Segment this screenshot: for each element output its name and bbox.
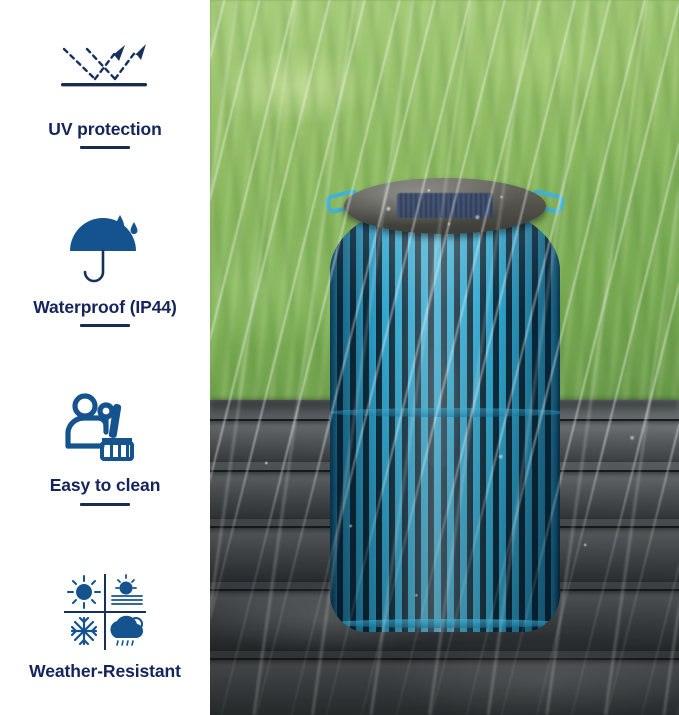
feature-item-waterproof: Waterproof (IP44) bbox=[0, 180, 210, 358]
uv-rays-reflect-icon bbox=[53, 27, 157, 113]
umbrella-raindrops-icon bbox=[62, 205, 148, 291]
feature-divider bbox=[80, 496, 130, 512]
product-feature-graphic: UV protection Waterproof (IP44) bbox=[0, 0, 679, 715]
person-scrub-brush-icon bbox=[62, 383, 148, 469]
feature-label: Weather-Resistant bbox=[29, 661, 181, 682]
feature-divider bbox=[80, 140, 130, 156]
feature-item-easy-to-clean: Easy to clean bbox=[0, 359, 210, 537]
feature-label: Easy to clean bbox=[50, 475, 161, 496]
solar-panel-lid bbox=[344, 178, 546, 234]
feature-item-weather-resistant: Weather-Resistant bbox=[0, 537, 210, 715]
feature-label: UV protection bbox=[48, 119, 161, 140]
feature-label: Waterproof (IP44) bbox=[33, 297, 177, 318]
product-photo bbox=[210, 0, 679, 715]
feature-item-uv-protection: UV protection bbox=[0, 2, 210, 180]
water-droplets bbox=[344, 178, 546, 234]
weather-grid-icon bbox=[62, 569, 148, 655]
feature-divider bbox=[80, 318, 130, 334]
rain-splashes bbox=[210, 400, 679, 715]
feature-list-panel: UV protection Waterproof (IP44) bbox=[0, 0, 210, 715]
